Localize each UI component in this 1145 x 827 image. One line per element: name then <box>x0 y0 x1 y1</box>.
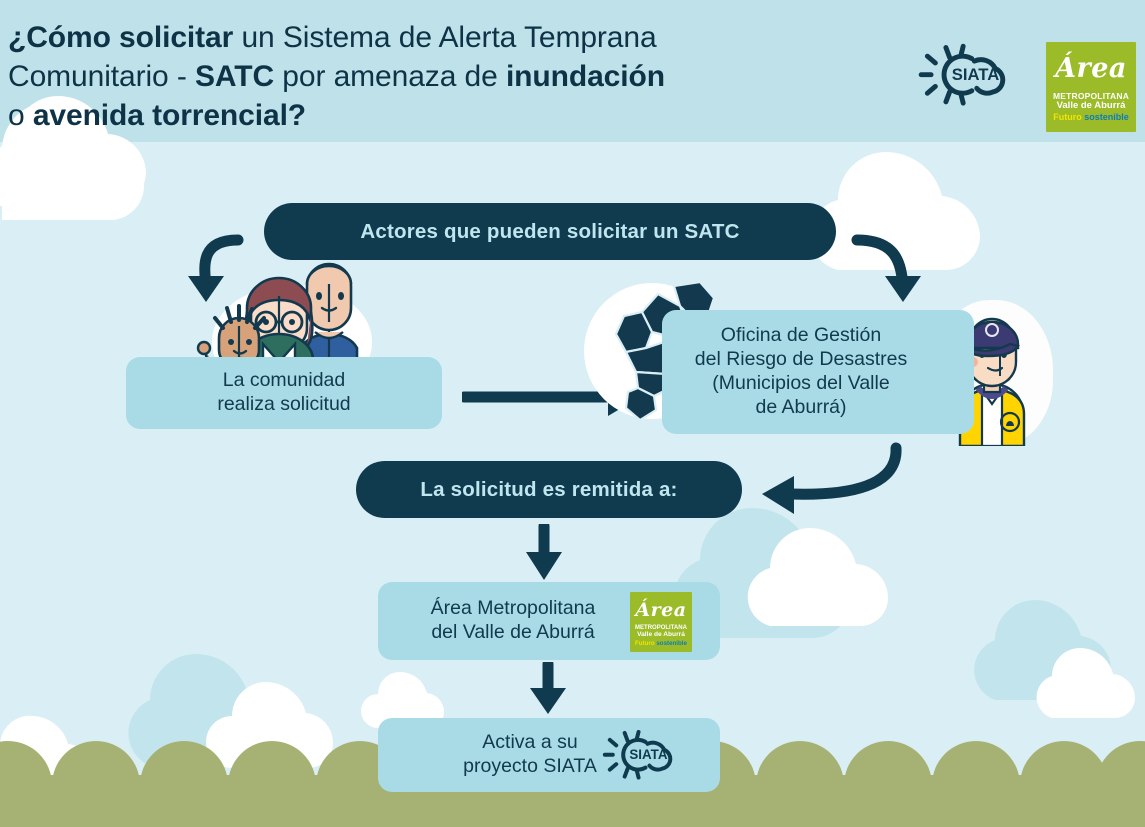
area-logo-line2: Valle de Aburrá <box>1046 101 1136 111</box>
siata-logo-icon: SIATA <box>915 42 1020 108</box>
pill-remitted[interactable]: La solicitud es remitida a: <box>356 461 742 518</box>
area-logo-inline-script: Área <box>630 596 692 625</box>
area-logo-tagline: Futuro sostenible <box>1046 113 1136 122</box>
area-logo-inline-line2: Valle de Aburrá <box>630 632 692 639</box>
pill-remitted-label: La solicitud es remitida a: <box>420 478 677 502</box>
title-regular-4: o <box>8 99 33 132</box>
title-regular-3: por amenaza de <box>274 60 506 93</box>
title-regular-2: Comunitario - <box>8 60 195 93</box>
arrow-down-to-siata <box>526 662 576 720</box>
header-pill-label: Actores que pueden solicitar un SATC <box>360 220 739 244</box>
box-siata-line2: proyecto SIATA <box>450 755 610 779</box>
title-bold-3: inundación <box>506 60 665 93</box>
siata-logo-inline-icon: SIATA <box>596 729 688 781</box>
arrow-down-to-area <box>522 524 572 586</box>
curved-arrow-office-to-remitted <box>752 434 912 524</box>
area-metropolitana-logo-inline: Área METROPOLITANA Valle de Aburrá Futur… <box>630 592 692 652</box>
box-area-line1: Área Metropolitana <box>392 597 634 621</box>
box-office-line2: del Riesgo de Desastres <box>662 348 940 372</box>
area-logo-inline-tagline: Futuro sostenible <box>630 641 692 647</box>
area-logo-script: Área <box>1046 47 1136 90</box>
title-bold-1: ¿Cómo solicitar <box>8 21 233 54</box>
area-logo-inline-tagline-b: sostenible <box>656 640 687 647</box>
infographic-canvas: ¿Cómo solicitar un Sistema de Alerta Tem… <box>0 0 1145 827</box>
area-logo-inline-line1: METROPOLITANA <box>630 625 692 631</box>
siata-wordmark: SIATA <box>952 65 1000 84</box>
box-community-line1: La comunidad <box>126 369 442 393</box>
box-office-line3: (Municipios del Valle <box>662 372 940 396</box>
area-logo-tagline-a: Futuro <box>1053 112 1082 122</box>
title-bold-2: SATC <box>195 60 274 93</box>
box-office-line4: de Aburrá) <box>662 396 940 420</box>
box-siata-line1: Activa a su <box>450 731 610 755</box>
title-regular-1: un Sistema de Alerta Temprana <box>233 21 656 54</box>
box-community-line2: realiza solicitud <box>126 393 442 417</box>
box-area-line2: del Valle de Aburrá <box>392 621 634 645</box>
area-metropolitana-logo: Área METROPOLITANA Valle de Aburrá Futur… <box>1046 42 1136 132</box>
area-logo-inline-tagline-a: Futuro <box>635 640 655 647</box>
area-logo-tagline-b: sostenible <box>1084 112 1129 122</box>
siata-inline-wordmark: SIATA <box>629 747 667 762</box>
box-community[interactable]: La comunidad realiza solicitud <box>126 357 442 429</box>
page-title: ¿Cómo solicitar un Sistema de Alerta Tem… <box>8 18 808 135</box>
box-office-line1: Oficina de Gestión <box>662 324 940 348</box>
box-office[interactable]: Oficina de Gestión del Riesgo de Desastr… <box>662 310 974 434</box>
title-bold-4: avenida torrencial? <box>33 99 306 132</box>
